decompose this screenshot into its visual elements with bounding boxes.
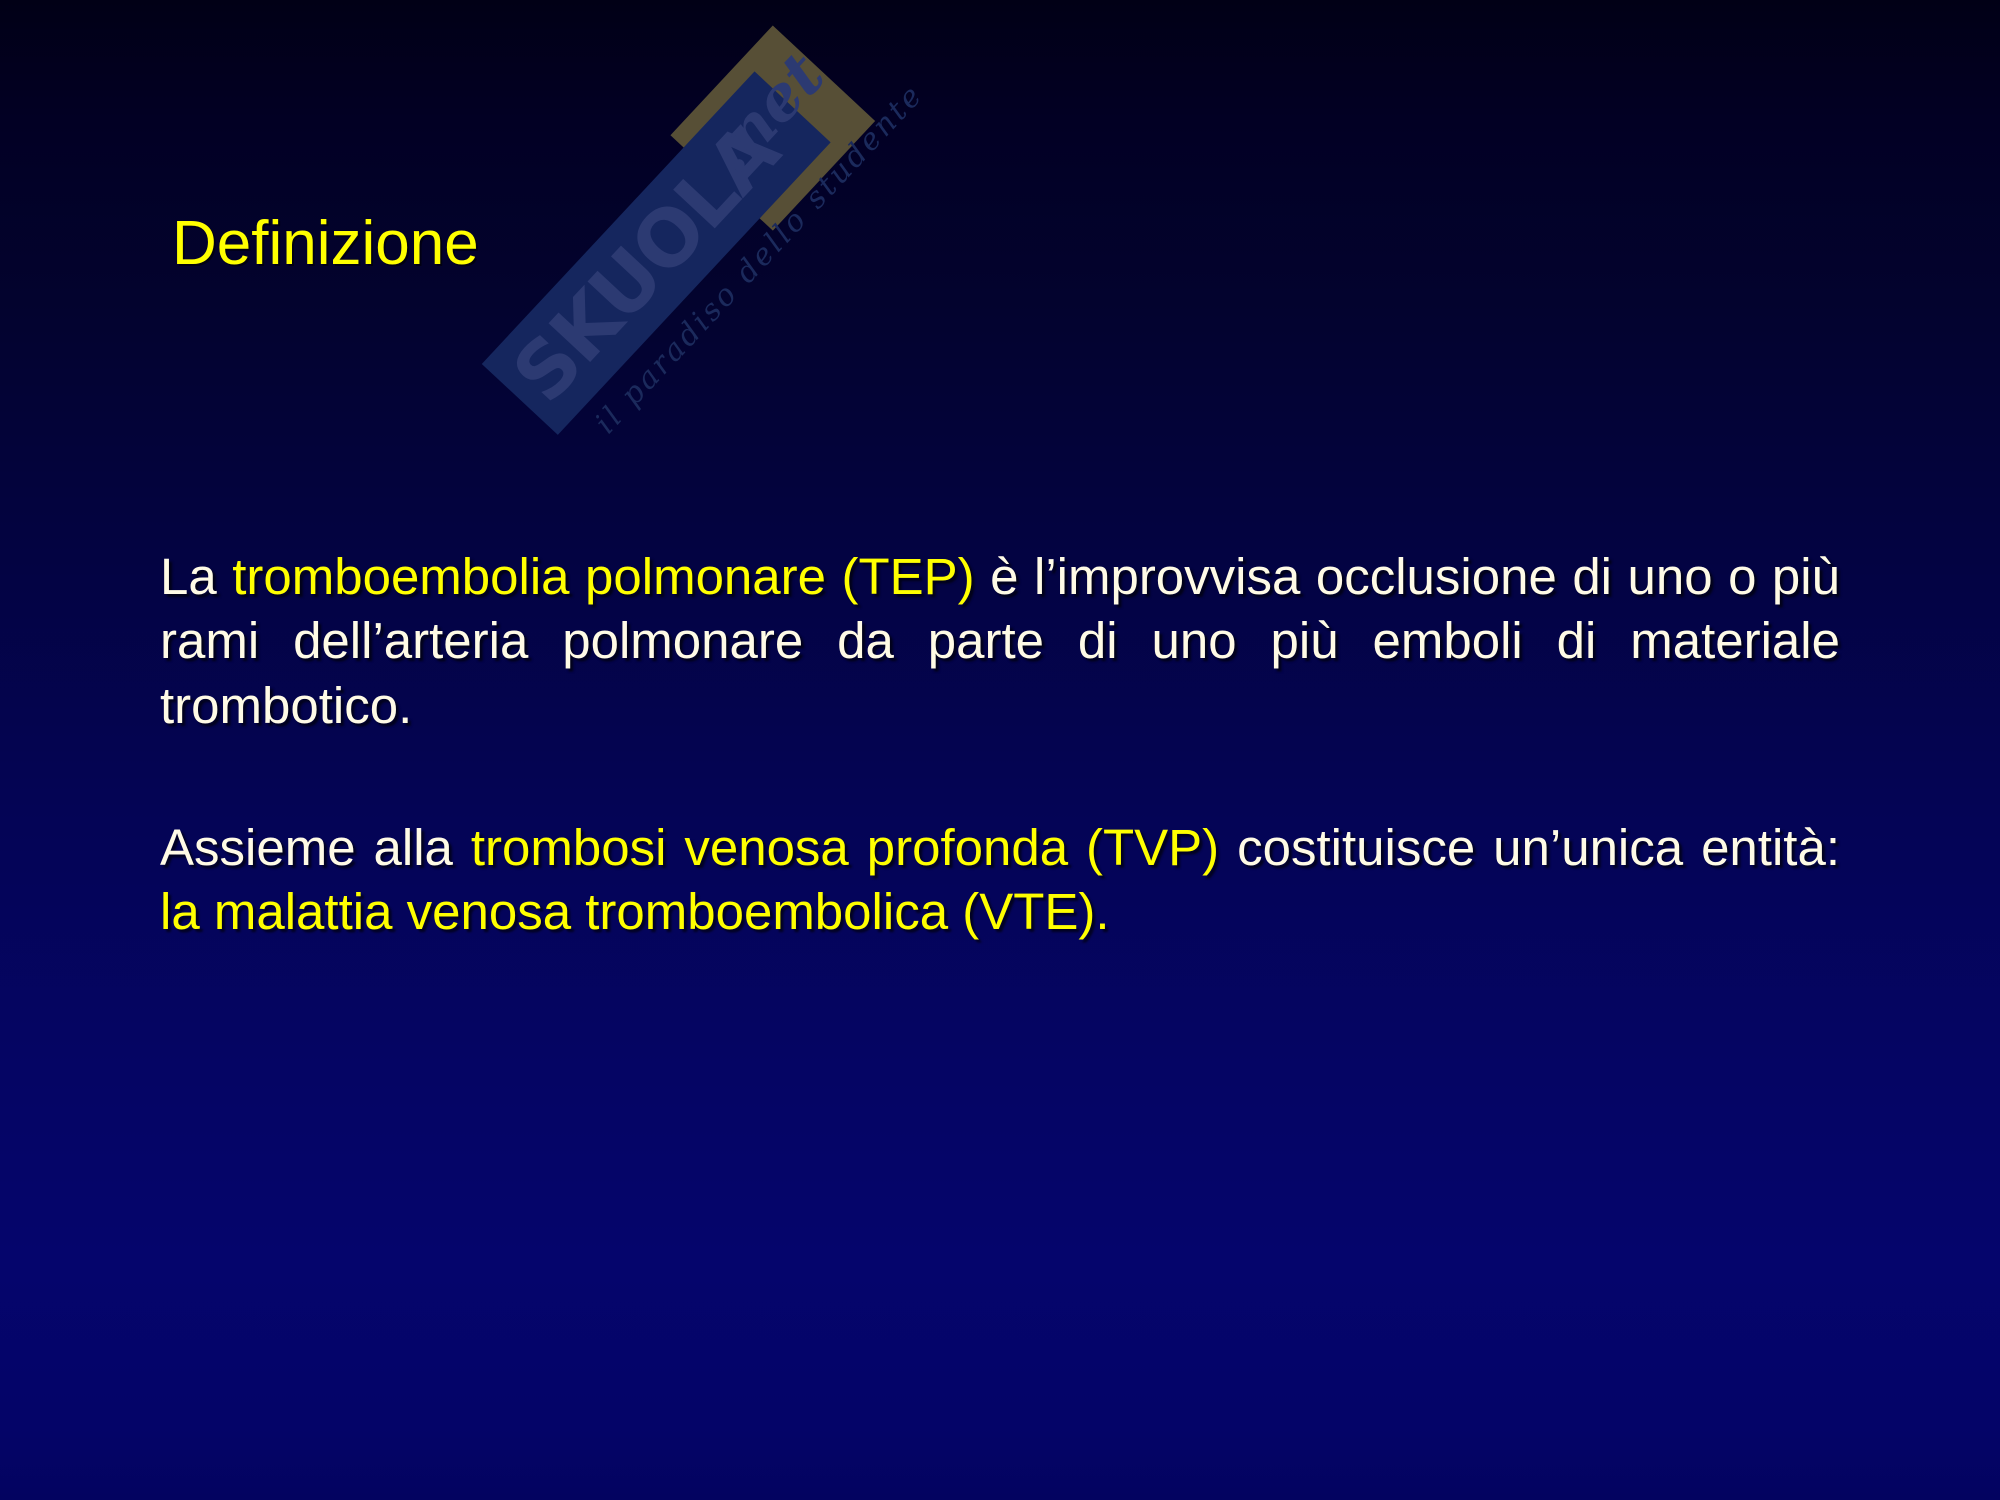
run-normal-mid: costituisce un’unica entità: [1219, 819, 1840, 876]
watermark-net-box [670, 25, 875, 230]
watermark-domain-label: .net [698, 43, 835, 184]
watermark-brand-bar: SKUOLa [482, 71, 831, 434]
run-highlight-vte: la malattia venosa tromboembolica (VTE). [160, 883, 1110, 940]
run-highlight-tep: tromboembolia polmonare (TEP) [232, 548, 974, 605]
slide-body: La tromboembolia polmonare (TEP) è l’imp… [160, 545, 1840, 944]
presentation-slide: SKUOLa .net il paradiso dello studente D… [0, 0, 2000, 1500]
paragraph-entity: Assieme alla trombosi venosa profonda (T… [160, 816, 1840, 945]
paragraph-definition: La tromboembolia polmonare (TEP) è l’imp… [160, 545, 1840, 738]
run-normal: Assieme alla [160, 819, 471, 876]
watermark-rotated-group: SKUOLa .net il paradiso dello studente [469, 8, 936, 488]
slide-title: Definizione [172, 213, 479, 275]
skuola-watermark: SKUOLa .net il paradiso dello studente [432, 28, 972, 468]
watermark-tagline: il paradiso dello studente [588, 77, 930, 441]
watermark-brand-label: SKUOLa [491, 112, 791, 426]
run-normal: La [160, 548, 232, 605]
run-highlight-tvp: trombosi venosa profonda (TVP) [471, 819, 1219, 876]
